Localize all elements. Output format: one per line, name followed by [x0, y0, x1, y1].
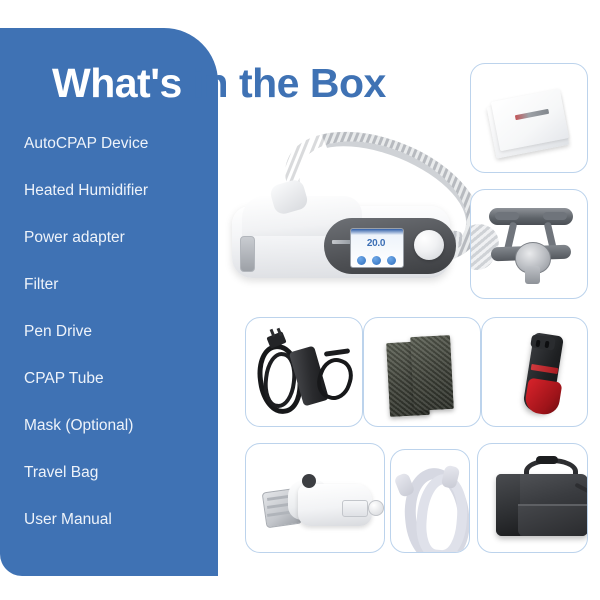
- bag-side-panel: [496, 474, 520, 536]
- page-title-segment-on-panel: What's: [52, 60, 182, 106]
- pen-drive-red-accent: [524, 378, 563, 417]
- bag-handle-grip: [536, 456, 558, 464]
- filter-card: [363, 317, 481, 427]
- device-side-vent: [240, 236, 255, 272]
- device-button-icon: [387, 256, 396, 265]
- mask-card: [470, 189, 588, 299]
- device-button-icon: [357, 256, 366, 265]
- whats-in-the-box-infographic: What's in the Box AutoCPAP Device Heated…: [0, 0, 600, 600]
- humidifier-image: [246, 444, 384, 552]
- bag-front-flap: [518, 506, 588, 536]
- list-item: Travel Bag: [24, 465, 214, 512]
- travel-bag-image: [478, 444, 587, 552]
- user-manual-card: [470, 63, 588, 173]
- mask-elbow-connector: [525, 266, 540, 284]
- mask-top-strap-left-pad: [495, 212, 519, 220]
- list-item: AutoCPAP Device: [24, 136, 214, 183]
- device-brand-logo: [332, 240, 352, 244]
- list-item: Power adapter: [24, 230, 214, 277]
- list-item: Heated Humidifier: [24, 183, 214, 230]
- pen-drive-image: [482, 318, 587, 426]
- page-title: What's in the Box: [52, 63, 386, 104]
- humidifier-control-knob: [368, 500, 384, 516]
- travel-bag-card: [477, 443, 588, 553]
- pen-drive-card: [481, 317, 588, 427]
- mask-top-strap-right-pad: [543, 212, 567, 220]
- humidifier-outlet-port: [302, 474, 316, 488]
- list-item: Mask (Optional): [24, 418, 214, 465]
- mask-image: [471, 190, 587, 298]
- device-control-knob: [414, 230, 444, 260]
- autocpap-device-hero: 20.0: [232, 148, 484, 310]
- page-title-segment-on-white: in the Box: [182, 60, 386, 106]
- power-adapter-image: [246, 318, 362, 426]
- power-adapter-dc-lead: [324, 348, 350, 357]
- filter-pad: [410, 335, 454, 411]
- cpap-tube-card: [390, 449, 470, 553]
- filter-image: [364, 318, 480, 426]
- list-item: Filter: [24, 277, 214, 324]
- device-button-icon: [372, 256, 381, 265]
- list-item: Pen Drive: [24, 324, 214, 371]
- power-adapter-card: [245, 317, 363, 427]
- device-display-value: 20.0: [350, 238, 402, 249]
- cpap-tube-image: [391, 450, 469, 552]
- user-manual-image: [471, 64, 587, 172]
- humidifier-card: [245, 443, 385, 553]
- box-contents-list: AutoCPAP Device Heated Humidifier Power …: [24, 136, 214, 559]
- list-item: CPAP Tube: [24, 371, 214, 418]
- list-item: User Manual: [24, 512, 214, 559]
- humidifier-display-screen: [342, 500, 368, 517]
